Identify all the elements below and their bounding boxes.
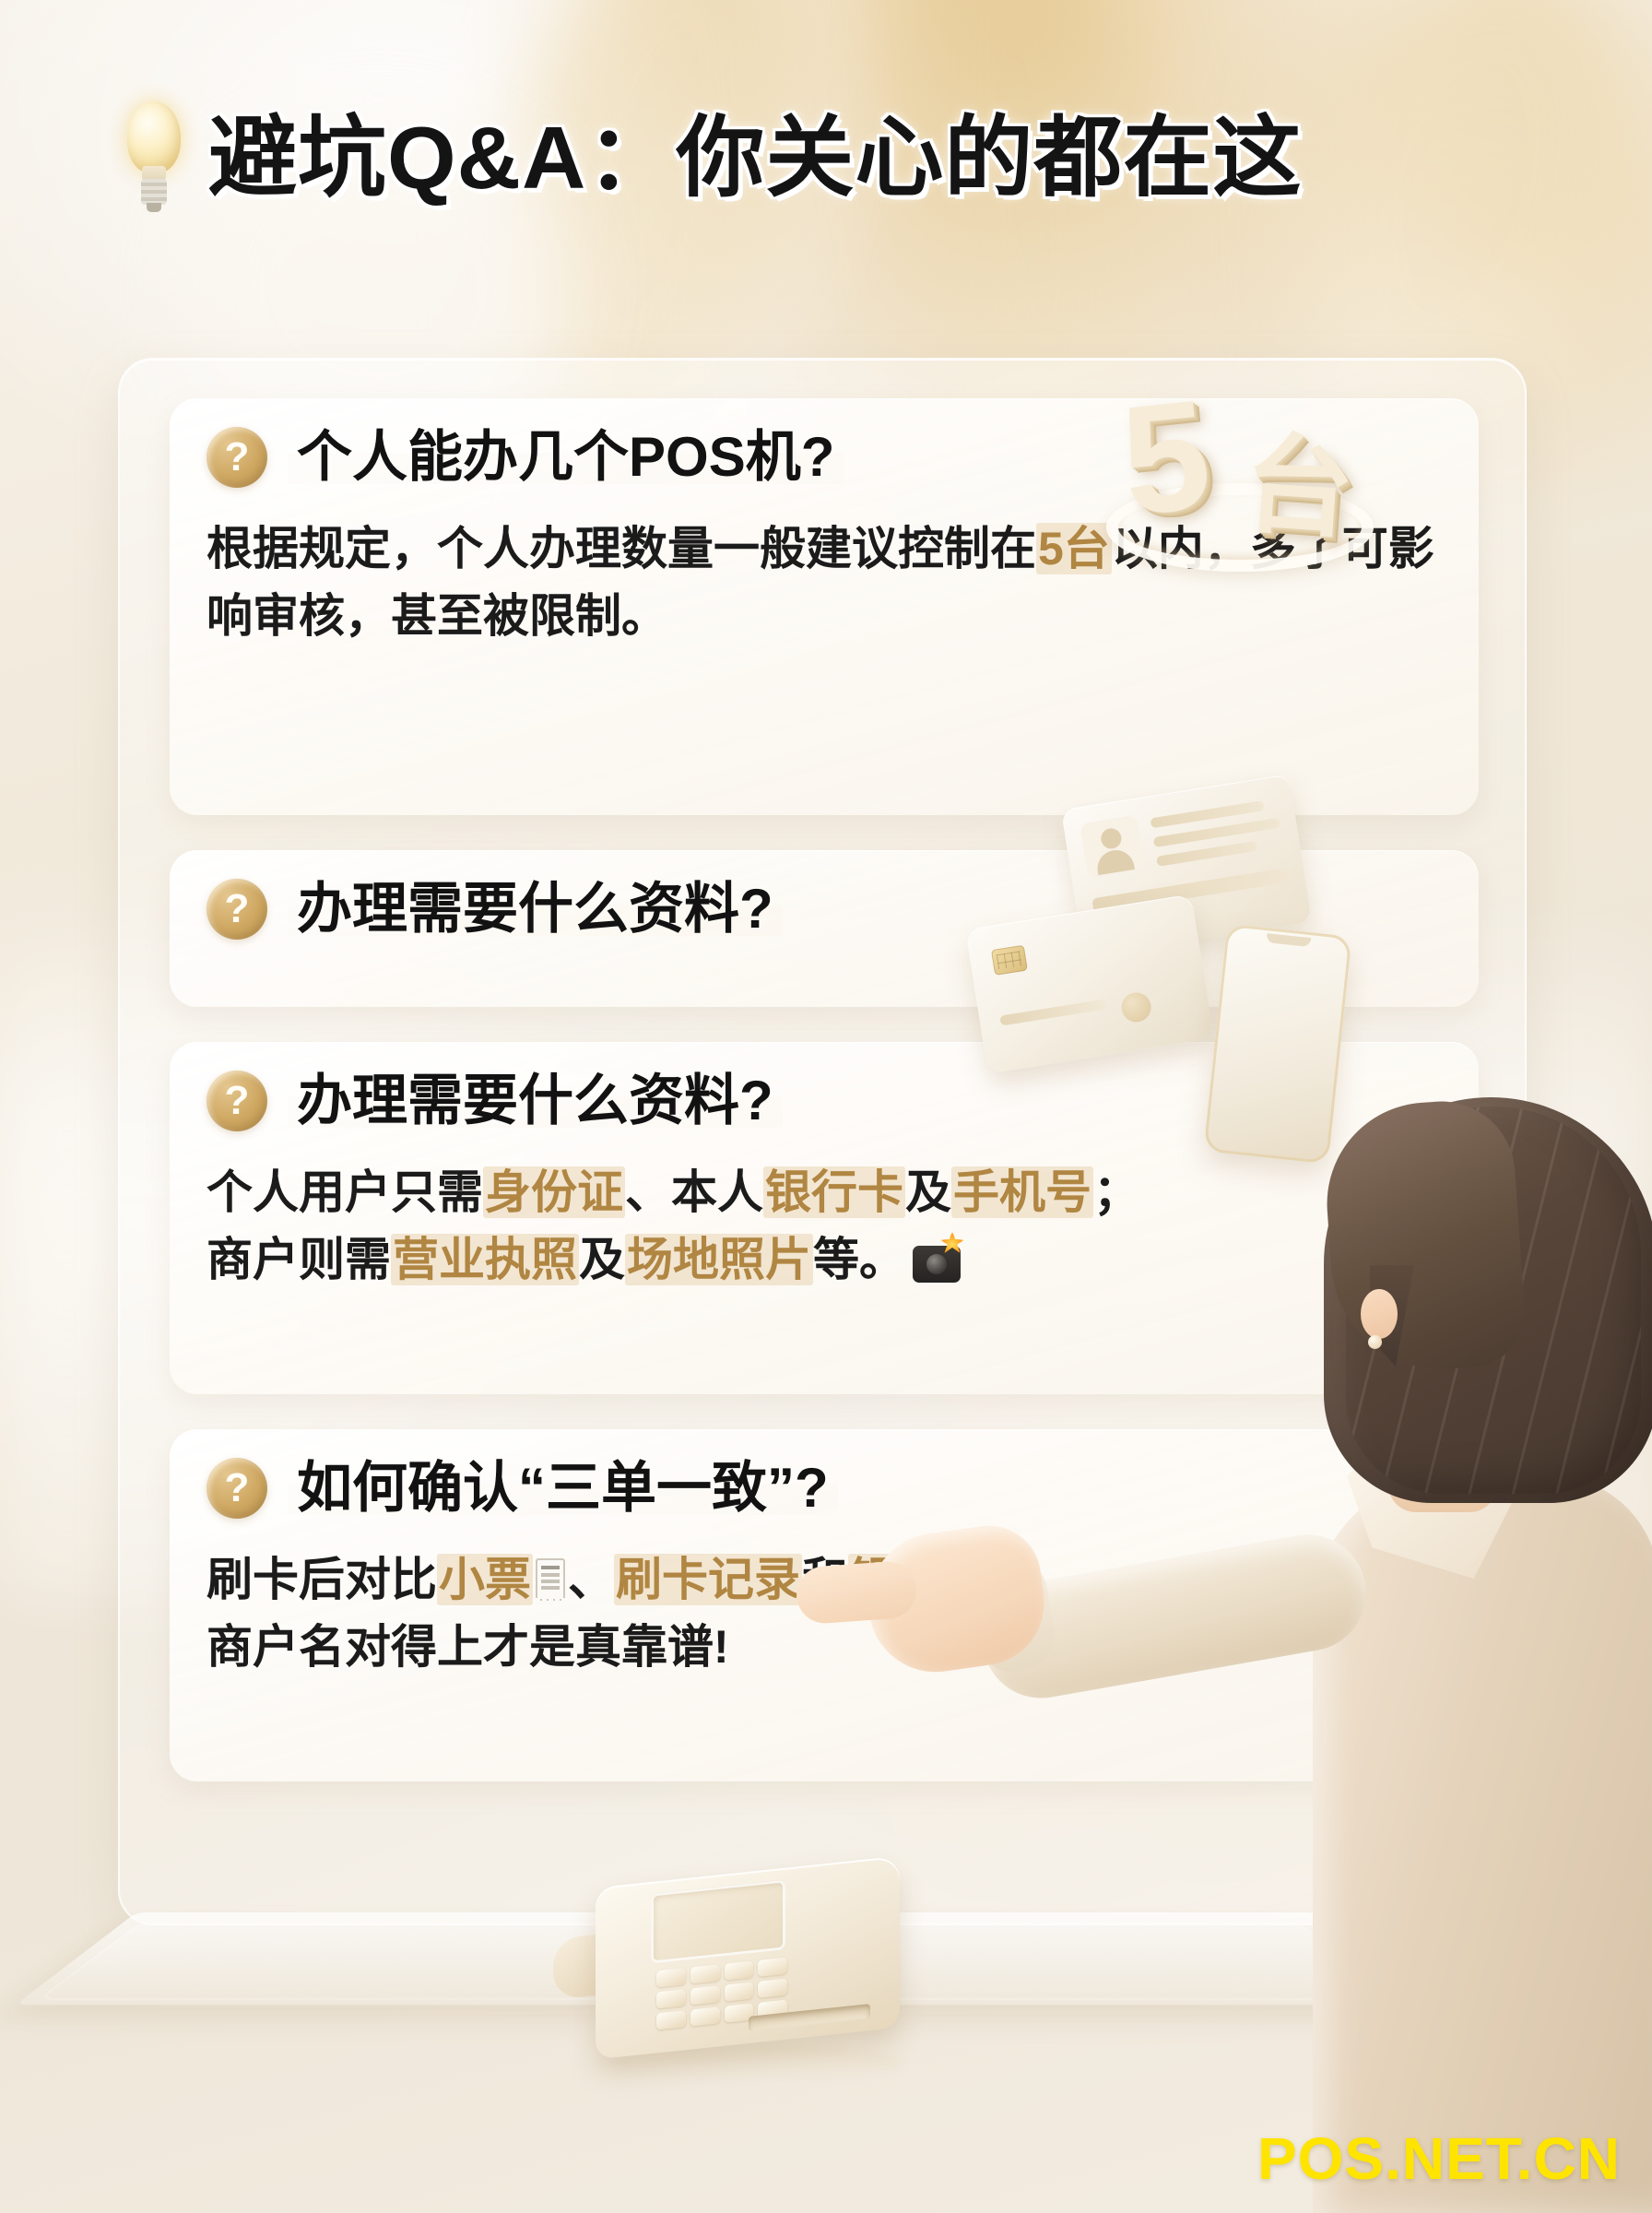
answer-highlight: 银行卡 (763, 1166, 905, 1218)
question-mark-icon: ? (206, 879, 267, 940)
question-mark-icon: ? (206, 1071, 267, 1131)
answer-highlight: 身份证 (483, 1166, 625, 1218)
question-title: 如何确认“三单一致”? (288, 1457, 838, 1519)
question-mark-icon: ? (206, 427, 267, 488)
question-row: ? 如何确认“三单一致”? (206, 1457, 1442, 1519)
question-title: 个人能办几个POS机? (288, 426, 844, 488)
question-row: ? 办理需要什么资料? (206, 878, 1442, 940)
answer-segment: 等。 (813, 1234, 905, 1285)
answer-segment: ； (1093, 1166, 1139, 1218)
qa-card[interactable]: ? 办理需要什么资料? 个人用户只需身份证、本人银行卡及手机号；商户则需营业执照… (170, 1042, 1479, 1394)
question-title: 办理需要什么资料? (288, 878, 783, 940)
qa-card-list: ? 个人能办几个POS机? 根据规定，个人办理数量一般建议控制在5台以内，多了可… (170, 398, 1479, 1817)
answer-highlight: 刷卡记录 (614, 1554, 802, 1605)
answer-segment: 、 (568, 1554, 614, 1605)
question-row: ? 个人能办几个POS机? (206, 426, 1442, 488)
answer-highlight: 场地照片 (625, 1234, 813, 1285)
answer-segment: 根据规定，个人办理数量一般建议控制在 (206, 523, 1036, 574)
camera-icon (913, 1246, 961, 1283)
answer-text: 刷卡后对比小票、刷卡记录和银行流水，商户名对得上才是真靠谱! (206, 1546, 1442, 1681)
qa-card[interactable]: ? 如何确认“三单一致”? 刷卡后对比小票、刷卡记录和银行流水，商户名对得上才是… (170, 1429, 1479, 1781)
pos-screen (651, 1879, 785, 1963)
pos-terminal-icon (553, 1852, 940, 2091)
page-title: 避坑Q&A：你关心的都在这 (208, 114, 1302, 203)
qa-card[interactable]: ? 办理需要什么资料? (170, 850, 1479, 1007)
answer-highlight: 营业执照 (391, 1234, 579, 1285)
answer-highlight: 手机号 (951, 1166, 1093, 1218)
answer-segment: 商户则需 (206, 1234, 391, 1285)
answer-segment: 及 (905, 1166, 951, 1218)
watermark: POS.NET.CN (1257, 2124, 1621, 2193)
answer-highlight: 5台 (1036, 523, 1112, 574)
receipt-icon (536, 1558, 565, 1601)
lightbulb-icon (120, 100, 188, 218)
answer-segment: 和 (802, 1554, 848, 1605)
answer-text: 个人用户只需身份证、本人银行卡及手机号；商户则需营业执照及场地照片等。 (206, 1159, 1442, 1294)
question-mark-icon: ? (206, 1458, 267, 1519)
poster-root: 避坑Q&A：你关心的都在这 5 台 ? 个人能办几个POS机? 根据规定，个 (0, 0, 1652, 2213)
answer-segment: 刷卡后对比 (206, 1554, 437, 1605)
answer-segment: 个人用户只需 (206, 1166, 483, 1218)
page-title-row: 避坑Q&A：你关心的都在这 (120, 100, 1302, 218)
question-title: 办理需要什么资料? (288, 1070, 783, 1131)
answer-segment: 商户名对得上才是真靠谱! (206, 1621, 729, 1673)
qa-card[interactable]: ? 个人能办几个POS机? 根据规定，个人办理数量一般建议控制在5台以内，多了可… (170, 398, 1479, 815)
answer-highlight: 小票 (437, 1554, 533, 1605)
answer-segment: 、本人 (625, 1166, 763, 1218)
question-row: ? 办理需要什么资料? (206, 1070, 1442, 1131)
answer-segment: 及 (579, 1234, 625, 1285)
answer-text: 根据规定，个人办理数量一般建议控制在5台以内，多了可影响审核，甚至被限制。 (206, 515, 1442, 650)
answer-segment: ， (1036, 1554, 1082, 1605)
answer-highlight: 银行流水 (848, 1554, 1036, 1605)
